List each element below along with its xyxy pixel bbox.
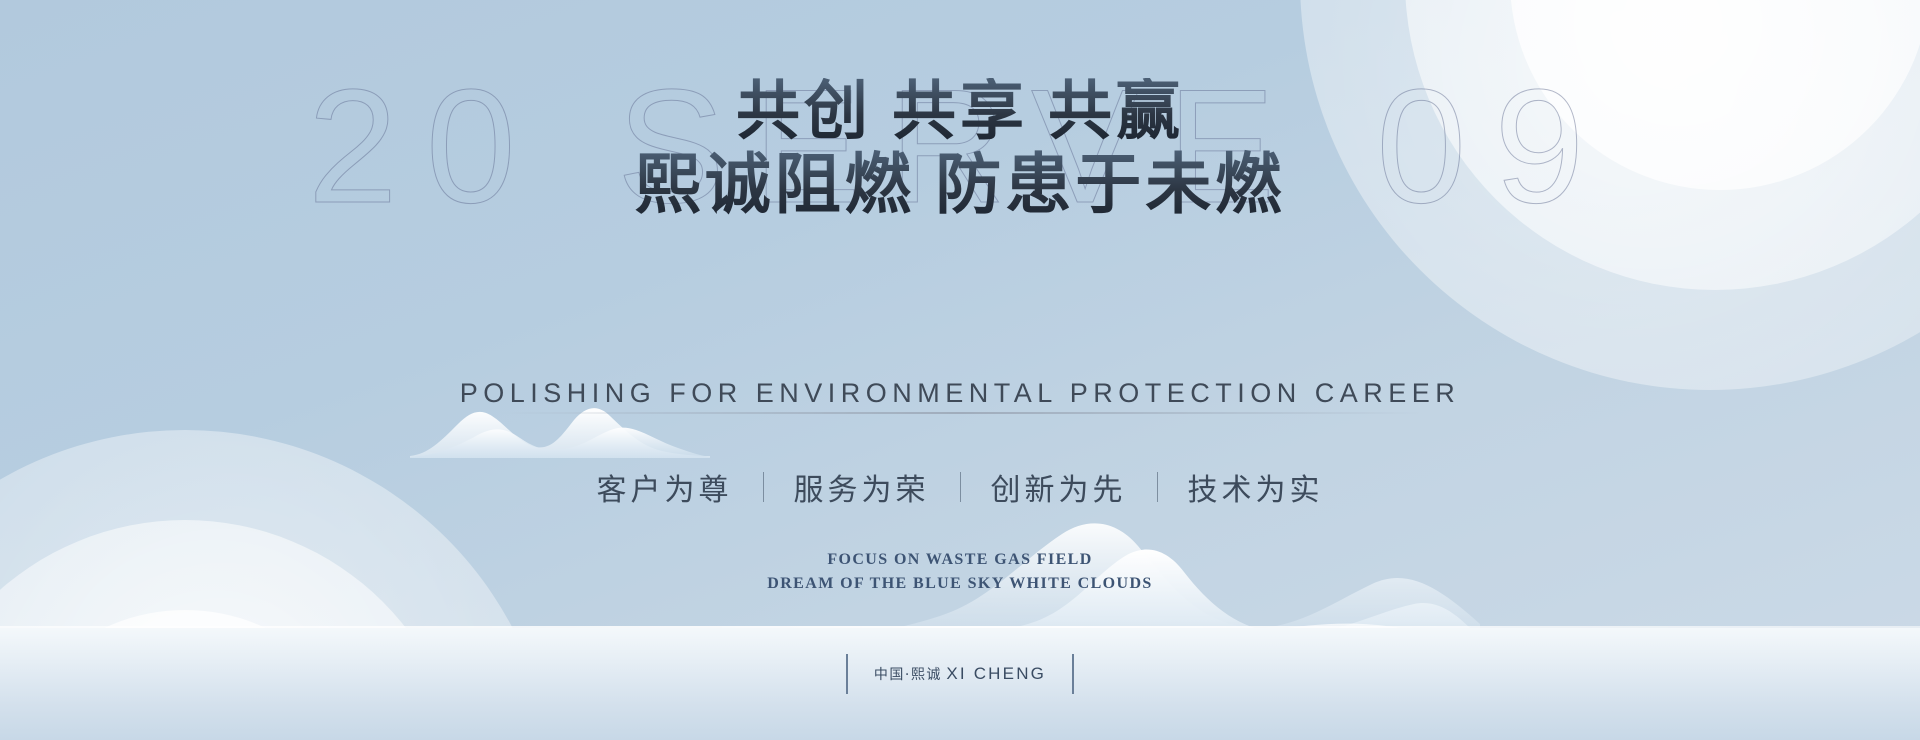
tagline-underline [498,412,1423,414]
value-item-3: 创新为先 [961,465,1157,509]
logo-text-cn: 中国·熙诚 [874,667,942,683]
sub-english-block: FOCUS ON WASTE GAS FIELD DREAM OF THE BL… [0,548,1920,596]
sub-english-line-1: FOCUS ON WASTE GAS FIELD [0,548,1920,572]
value-item-1: 客户为尊 [567,465,763,509]
sub-english-line-2: DREAM OF THE BLUE SKY WHITE CLOUDS [0,572,1920,596]
logo-text: 中国·熙诚 XI CHENG [874,663,1046,686]
brand-logo: 中国·熙诚 XI CHENG [0,654,1920,694]
logo-bar-left [846,654,848,694]
logo-bar-right [1072,654,1074,694]
tagline-english: POLISHING FOR ENVIRONMENTAL PROTECTION C… [0,378,1920,409]
values-row: 客户为尊 服务为荣 创新为先 技术为实 [0,465,1920,509]
logo-text-en: XI CHENG [946,664,1046,683]
headline-line-1: 共创 共享 共赢 [0,78,1920,145]
value-item-4: 技术为实 [1158,465,1354,509]
headline-block: 共创 共享 共赢 熙诚阻燃 防患于未燃 [0,78,1920,223]
ground-horizon-line [0,626,1920,628]
value-item-2: 服务为荣 [764,465,960,509]
hero-banner: 20 SERVE 09 共创 共享 共赢 熙诚阻燃 防患于未燃 POLISHIN… [0,0,1920,740]
headline-line-2: 熙诚阻燃 防患于未燃 [0,149,1920,223]
